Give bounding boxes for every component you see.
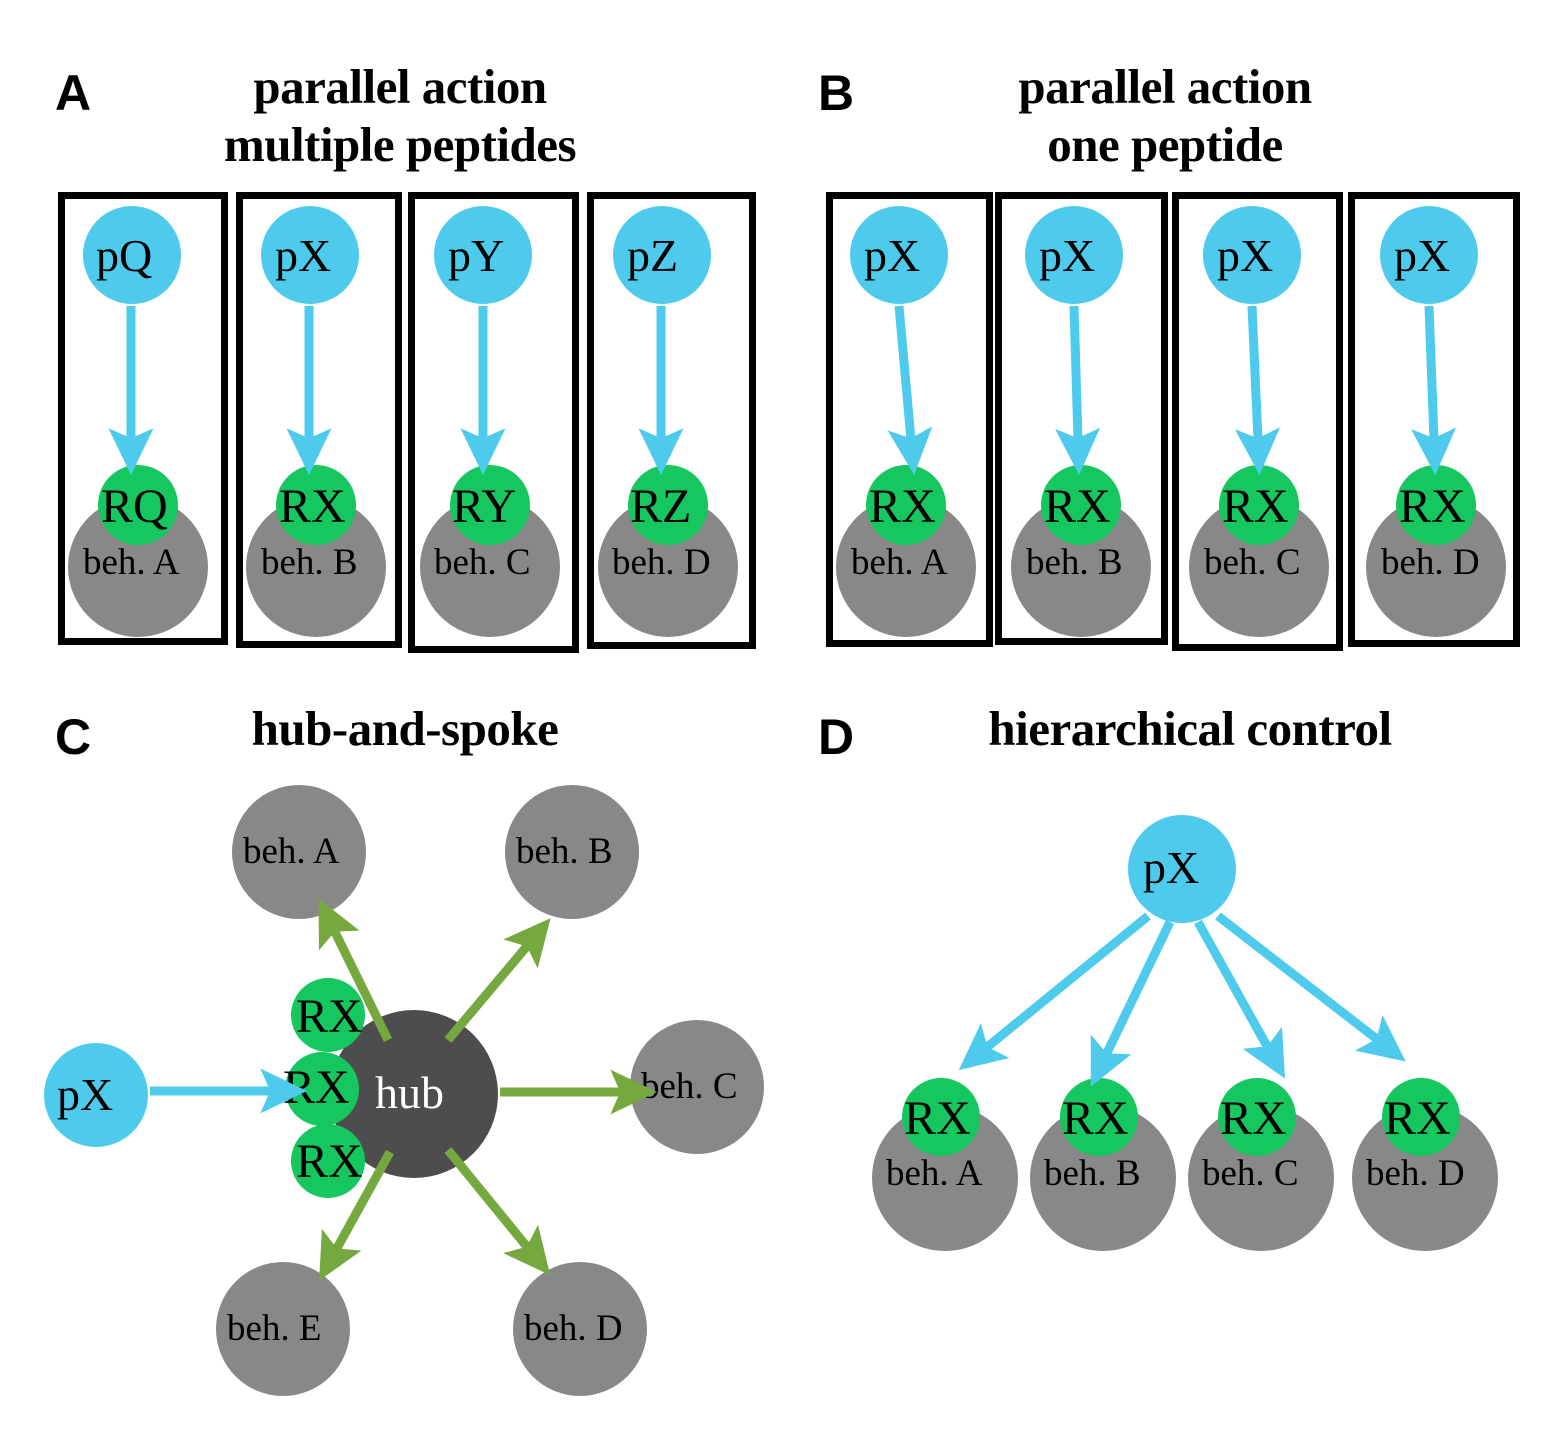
peptide-label-pz: pZ — [627, 233, 678, 279]
panel-d-arrows — [986, 916, 1378, 1055]
receptor-label-c-1: RX — [296, 993, 363, 1041]
panel-b-title-line2: one peptide — [885, 116, 1445, 174]
arrow-px-to-rx-d-c — [1198, 922, 1268, 1048]
peptide-label-px-c: pX — [57, 1072, 113, 1118]
receptor-label-rx-a2: RX — [279, 483, 346, 531]
behavior-label-d-c: beh. C — [1202, 1155, 1299, 1192]
receptor-label-d-c: RX — [1220, 1095, 1287, 1143]
receptor-label-rx-b2: RX — [1044, 483, 1111, 531]
panel-b-title-line1: parallel action — [885, 58, 1445, 116]
receptor-label-d-b: RX — [1062, 1095, 1129, 1143]
behavior-label-c2: beh. C — [1204, 544, 1301, 581]
panel-d-title: hierarchical control — [890, 700, 1490, 758]
behavior-label-c1: beh. C — [434, 544, 531, 581]
peptide-label-px-b2: pX — [1039, 233, 1095, 279]
behavior-label-d1: beh. D — [612, 544, 711, 581]
panel-a-title-line1: parallel action — [120, 58, 680, 116]
behavior-label-c-d: beh. D — [524, 1310, 623, 1347]
behavior-label-a1: beh. A — [83, 544, 180, 581]
peptide-label-px-b3: pX — [1217, 233, 1273, 279]
receptor-label-rx-b4: RX — [1399, 483, 1466, 531]
behavior-label-a2: beh. A — [851, 544, 948, 581]
hub-label: hub — [375, 1070, 444, 1116]
behavior-label-c-b: beh. B — [516, 833, 613, 870]
arrow-px-to-rx-d-b — [1106, 922, 1170, 1055]
arrow-px-to-rx-d-d — [1218, 916, 1378, 1040]
peptide-label-pq: pQ — [96, 233, 152, 279]
peptide-label-px-a2: pX — [275, 233, 331, 279]
panel-a-title: parallel action multiple peptides — [120, 58, 680, 174]
panel-c-title: hub-and-spoke — [125, 700, 685, 758]
figure-canvas: A parallel action multiple peptides pQ R… — [0, 0, 1548, 1448]
behavior-label-c-e: beh. E — [227, 1310, 322, 1347]
peptide-label-py: pY — [448, 233, 504, 279]
receptor-label-c-3: RX — [296, 1138, 363, 1186]
behavior-label-c-c: beh. C — [641, 1068, 738, 1105]
panel-a-title-line2: multiple peptides — [120, 116, 680, 174]
receptor-label-d-a: RX — [904, 1095, 971, 1143]
receptor-label-rz: RZ — [630, 483, 691, 531]
behavior-label-d-a: beh. A — [886, 1155, 983, 1192]
receptor-label-ry: RY — [452, 483, 516, 531]
peptide-label-px-d: pX — [1143, 845, 1199, 891]
receptor-label-rq: RQ — [101, 483, 168, 531]
receptor-label-rx-b3: RX — [1222, 483, 1289, 531]
behavior-label-b1: beh. B — [261, 544, 358, 581]
panel-letter-c: C — [55, 712, 91, 762]
panel-b-title: parallel action one peptide — [885, 58, 1445, 174]
panel-letter-a: A — [55, 68, 91, 118]
receptor-label-c-2: RX — [283, 1064, 350, 1112]
receptor-label-d-d: RX — [1384, 1095, 1451, 1143]
peptide-label-px-b4: pX — [1394, 233, 1450, 279]
behavior-label-d-d: beh. D — [1366, 1155, 1465, 1192]
peptide-label-px-b1: pX — [864, 233, 920, 279]
spoke-to-beh-d — [448, 1150, 528, 1248]
receptor-label-rx-b1: RX — [869, 483, 936, 531]
panel-letter-d: D — [818, 712, 854, 762]
arrow-px-to-rx-d-a — [986, 916, 1148, 1048]
panel-letter-b: B — [818, 68, 854, 118]
behavior-label-c-a: beh. A — [243, 833, 340, 870]
behavior-label-d2: beh. D — [1381, 544, 1480, 581]
behavior-label-d-b: beh. B — [1044, 1155, 1141, 1192]
behavior-label-b2: beh. B — [1026, 544, 1123, 581]
